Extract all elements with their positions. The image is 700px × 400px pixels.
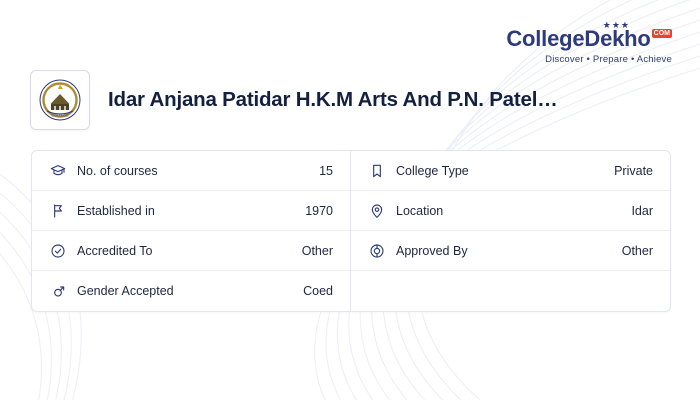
info-label: Location: [396, 204, 631, 218]
info-value: 15: [319, 164, 333, 178]
info-label: Established in: [77, 204, 305, 218]
table-row: Accredited To Other: [32, 231, 350, 271]
crest-emblem-icon: COLLEGE: [37, 77, 83, 123]
college-info-table: No. of courses 15 Established in 1970: [31, 150, 671, 312]
flag-icon: [50, 203, 70, 219]
info-label: No. of courses: [77, 164, 319, 178]
check-circle-icon: [50, 243, 70, 259]
graduation-cap-icon: [50, 163, 70, 179]
info-value: Idar: [631, 204, 653, 218]
college-header: COLLEGE Idar Anjana Patidar H.K.M Arts A…: [30, 70, 670, 130]
table-row: No. of courses 15: [32, 151, 350, 191]
table-row: College Type Private: [351, 151, 670, 191]
approved-icon: [369, 243, 389, 259]
info-column-left: No. of courses 15 Established in 1970: [32, 151, 351, 311]
svg-text:COLLEGE: COLLEGE: [52, 114, 70, 118]
brand-name-part1: College: [506, 26, 584, 51]
page-root: ★★★ CollegeDekhoCOM Discover • Prepare •…: [0, 0, 700, 400]
info-value: Other: [302, 244, 333, 258]
info-label: Approved By: [396, 244, 622, 258]
brand-tagline: Discover • Prepare • Achieve: [506, 54, 672, 65]
info-value: 1970: [305, 204, 333, 218]
stars-icon: ★★★: [603, 20, 630, 31]
brand-badge: COM: [652, 29, 672, 38]
brand-logo: ★★★ CollegeDekhoCOM Discover • Prepare •…: [506, 28, 672, 65]
info-label: College Type: [396, 164, 614, 178]
brand-name: CollegeDekhoCOM: [506, 28, 672, 50]
table-row: Gender Accepted Coed: [32, 271, 350, 311]
table-row: Location Idar: [351, 191, 670, 231]
location-pin-icon: [369, 203, 389, 219]
info-value: Coed: [303, 284, 333, 298]
table-row: Established in 1970: [32, 191, 350, 231]
table-row-empty: [351, 271, 670, 311]
bookmark-icon: [369, 163, 389, 179]
gender-icon: [50, 283, 70, 299]
college-crest: COLLEGE: [30, 70, 90, 130]
info-column-right: College Type Private Location Idar: [351, 151, 670, 311]
info-value: Other: [622, 244, 653, 258]
info-value: Private: [614, 164, 653, 178]
info-label: Accredited To: [77, 244, 302, 258]
table-row: Approved By Other: [351, 231, 670, 271]
info-label: Gender Accepted: [77, 284, 303, 298]
page-title: Idar Anjana Patidar H.K.M Arts And P.N. …: [108, 88, 558, 113]
